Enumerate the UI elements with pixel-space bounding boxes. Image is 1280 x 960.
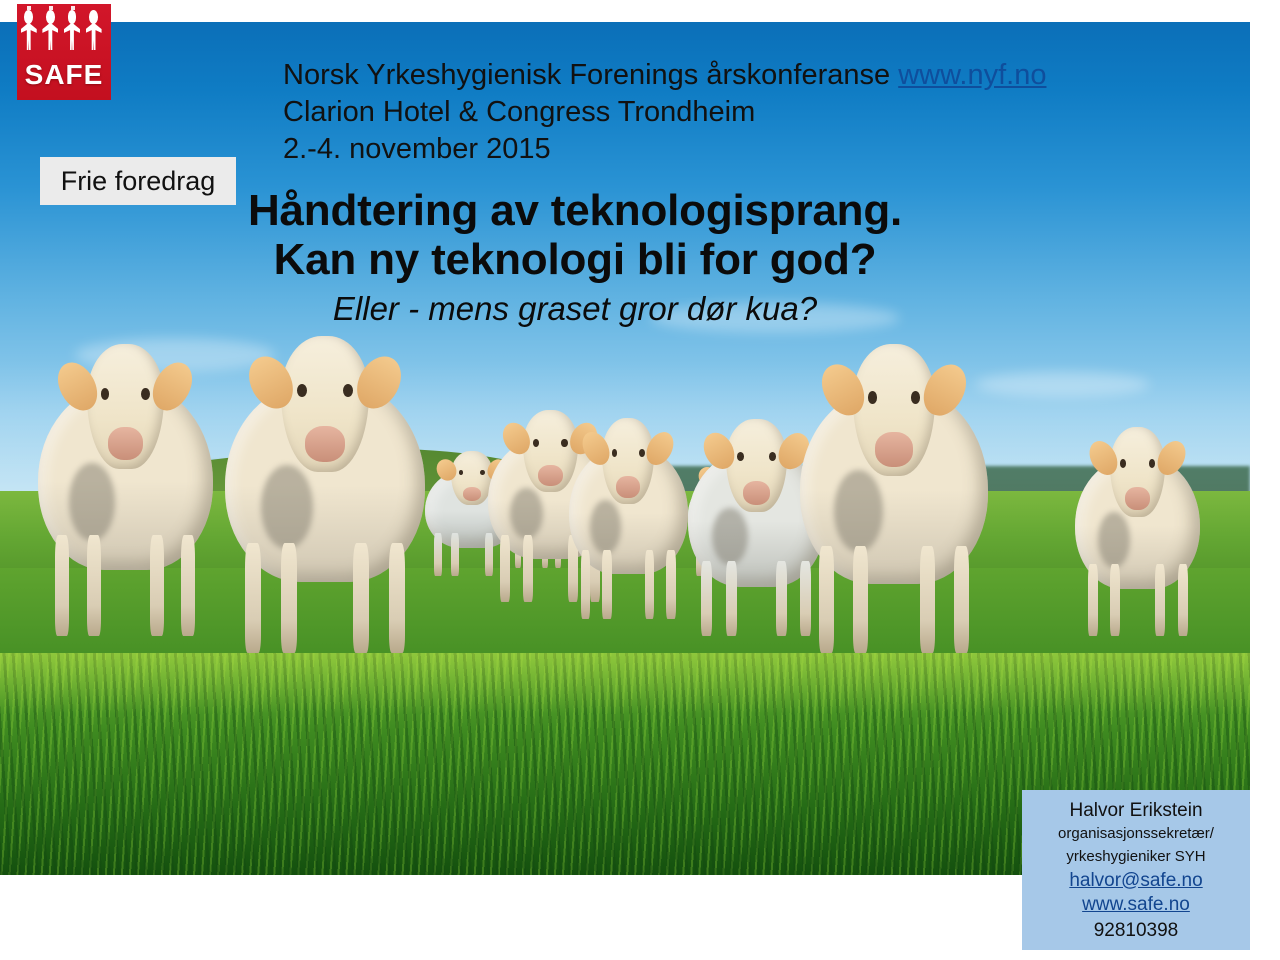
- cow-figure: [569, 414, 688, 619]
- contact-website-link[interactable]: www.safe.no: [1022, 893, 1250, 918]
- conference-info: Norsk Yrkeshygienisk Forenings årskonfer…: [283, 57, 1047, 168]
- contact-phone: 92810398: [1022, 918, 1250, 944]
- contact-info-box: Halvor Erikstein organisasjonssekretær/ …: [1022, 790, 1250, 950]
- title-line-2: Kan ny teknologi bli for god?: [180, 235, 970, 284]
- cow-figure: [800, 338, 988, 654]
- safe-logo-figures-icon: [17, 4, 111, 58]
- grass-highlight-layer: [0, 653, 1250, 713]
- safe-logo: SAFE: [17, 4, 111, 100]
- slide-title-block: Håndtering av teknologisprang. Kan ny te…: [180, 186, 970, 328]
- contact-role-line-1: organisasjonssekretær/: [1022, 822, 1250, 845]
- conference-organizer-text: Norsk Yrkeshygienisk Forenings årskonfer…: [283, 59, 898, 91]
- title-line-1: Håndtering av teknologisprang.: [180, 186, 970, 235]
- conference-website-link[interactable]: www.nyf.no: [898, 59, 1046, 91]
- cow-figure: [1075, 423, 1200, 636]
- contact-name: Halvor Erikstein: [1022, 800, 1250, 822]
- cow-figure: [38, 338, 213, 637]
- conference-venue: Clarion Hotel & Congress Trondheim: [283, 94, 1047, 131]
- title-subtitle: Eller - mens graset gror dør kua?: [180, 289, 970, 329]
- conference-dates: 2.-4. november 2015: [283, 131, 1047, 168]
- contact-role-line-2: yrkeshygieniker SYH: [1022, 845, 1250, 868]
- conference-organizer-line: Norsk Yrkeshygienisk Forenings årskonfer…: [283, 57, 1047, 94]
- contact-email-link[interactable]: halvor@safe.no: [1022, 869, 1250, 894]
- cow-figure: [225, 329, 425, 653]
- cloud-shape: [975, 372, 1150, 398]
- presentation-slide: SAFE Frie foredrag Norsk Yrkeshygienisk …: [0, 0, 1280, 960]
- safe-logo-wordmark: SAFE: [17, 59, 111, 91]
